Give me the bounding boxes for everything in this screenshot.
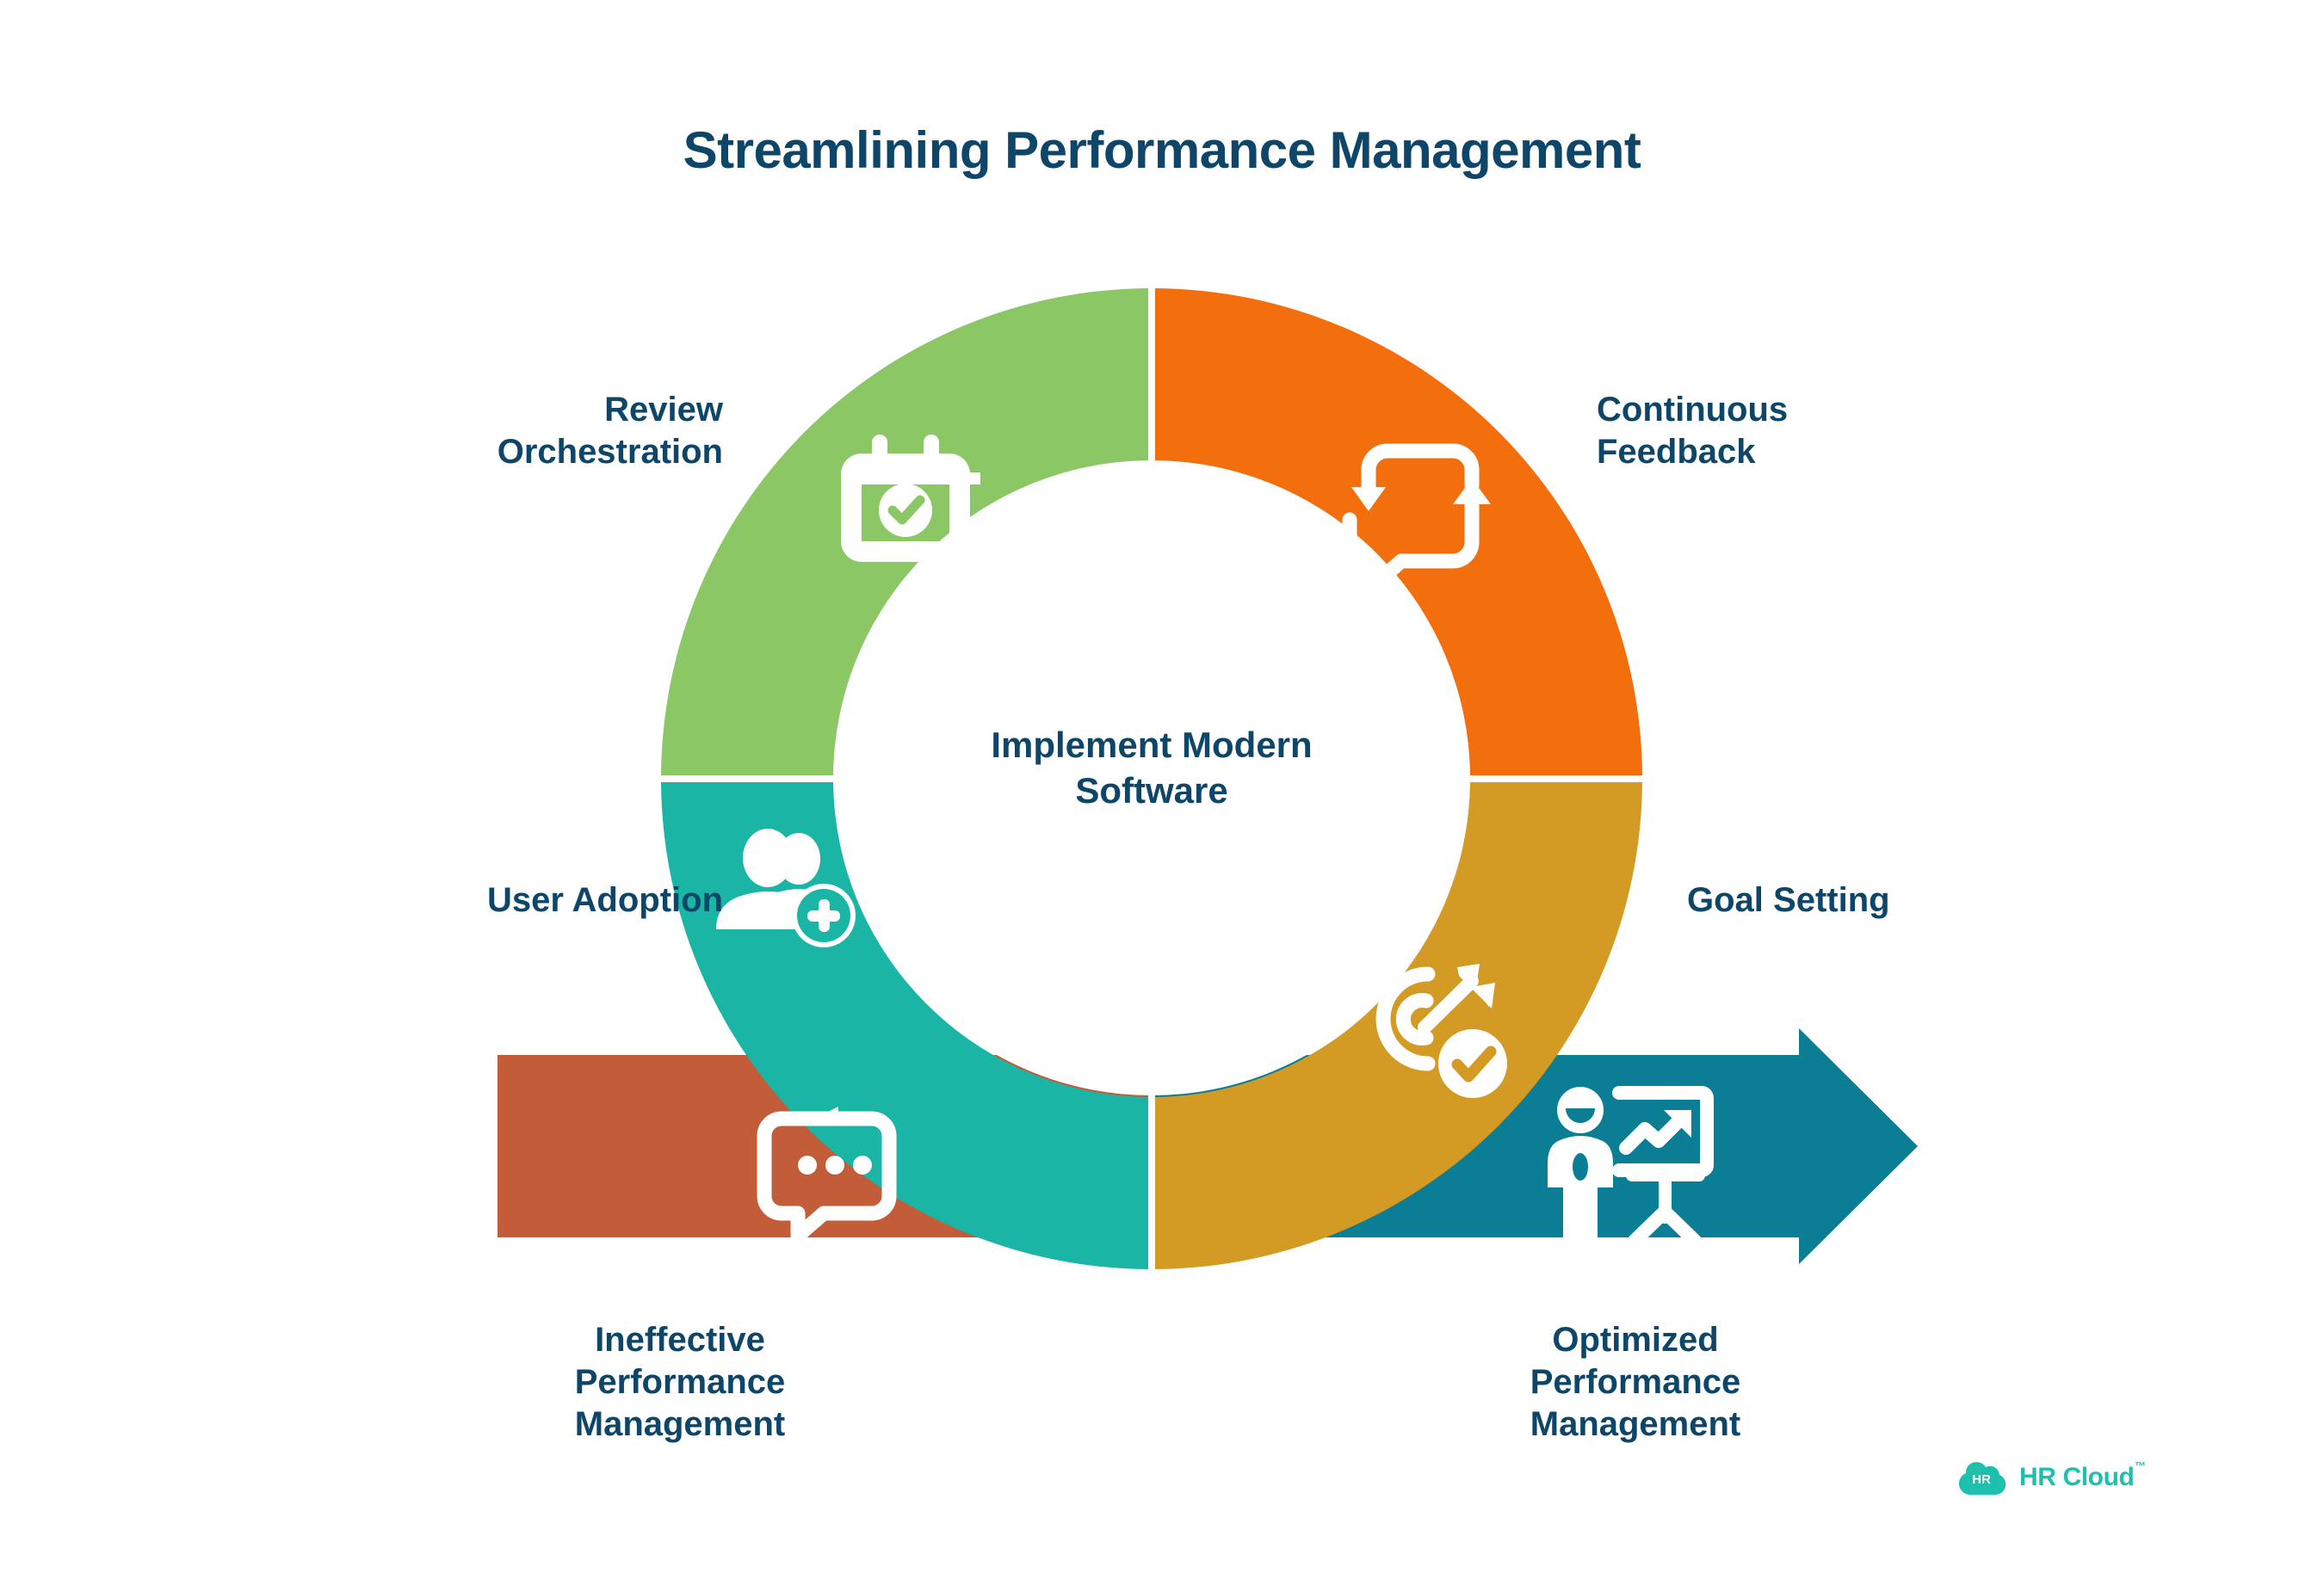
cloud-badge-text: HR <box>1972 1472 1991 1487</box>
cloud-badge-icon: HR <box>1956 1457 2009 1498</box>
logo-trademark: ™ <box>2135 1459 2146 1472</box>
label-optimized-line1: Optimized <box>1446 1319 1825 1361</box>
logo-name: HR Cloud <box>2019 1463 2134 1491</box>
label-ineffective-line1: Ineffective <box>491 1319 869 1361</box>
label-review-orchestration: Review Orchestration <box>327 389 723 473</box>
label-goal-setting-line1: Goal Setting <box>1687 879 2117 922</box>
hr-cloud-logo: HR HR Cloud ™ <box>1956 1457 2134 1498</box>
label-optimized-performance-management: Optimized Performance Management <box>1446 1319 1825 1445</box>
label-ineffective-line2: Performance <box>491 1361 869 1403</box>
label-review-orchestration-line2: Orchestration <box>327 431 723 473</box>
donut-center-label: Implement Modern Software <box>876 723 1427 813</box>
label-user-adoption: User Adoption <box>293 879 723 922</box>
label-continuous-feedback: Continuous Feedback <box>1597 389 1993 473</box>
label-continuous-feedback-line2: Feedback <box>1597 431 1993 473</box>
page-title: Streamlining Performance Management <box>0 120 2324 180</box>
center-label-line1: Implement Modern <box>876 723 1427 768</box>
label-ineffective-line3: Management <box>491 1403 869 1446</box>
center-label-line2: Software <box>876 768 1427 814</box>
label-optimized-line2: Performance <box>1446 1361 1825 1403</box>
label-ineffective-performance-management: Ineffective Performance Management <box>491 1319 869 1445</box>
label-optimized-line3: Management <box>1446 1403 1825 1446</box>
label-continuous-feedback-line1: Continuous <box>1597 389 1993 431</box>
label-goal-setting: Goal Setting <box>1687 879 2117 922</box>
infographic-canvas: Streamlining Performance Management Impl… <box>0 0 2324 1573</box>
label-review-orchestration-line1: Review <box>327 389 723 431</box>
logo-wordmark: HR Cloud ™ <box>2019 1463 2134 1492</box>
label-user-adoption-line1: User Adoption <box>293 879 723 922</box>
